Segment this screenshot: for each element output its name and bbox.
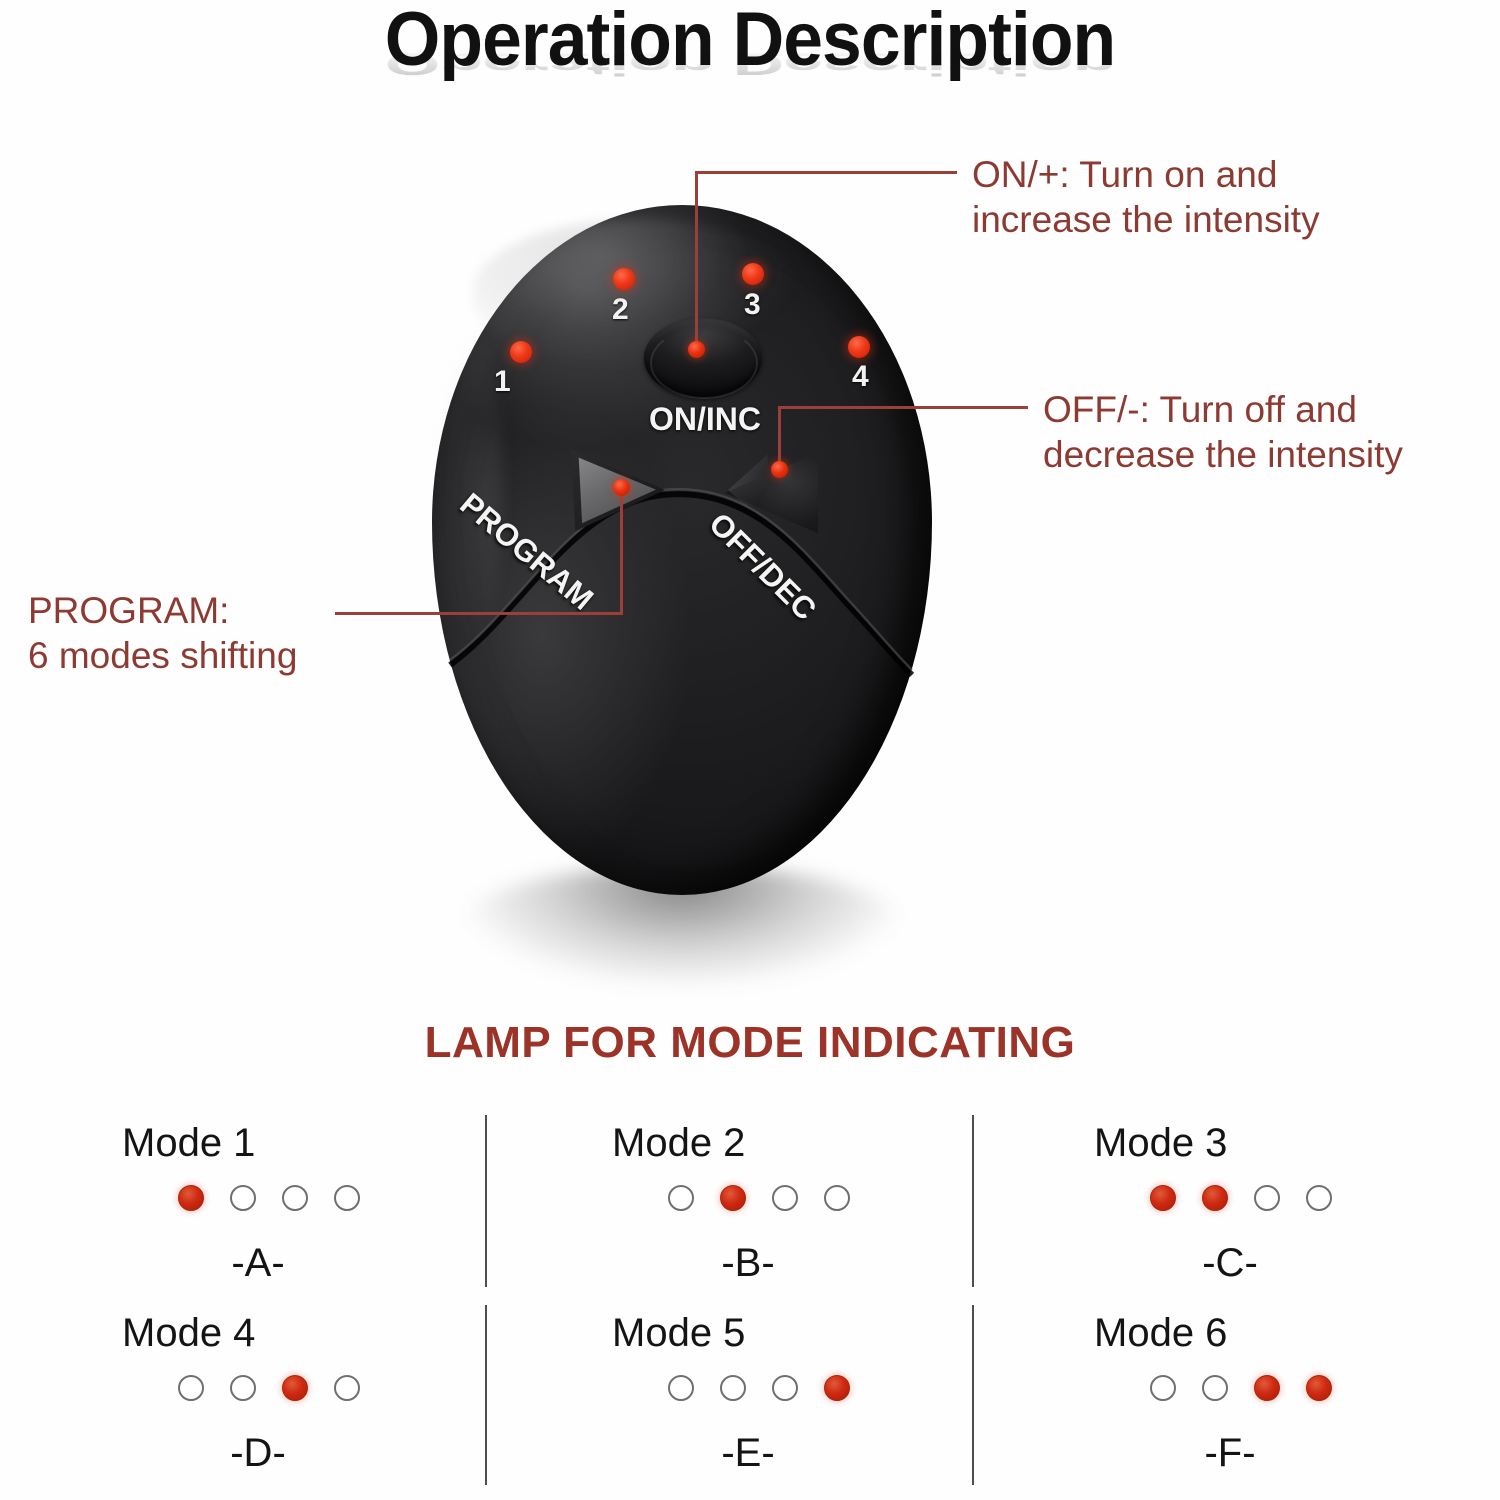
off-callout-line-2: decrease the intensity	[1043, 432, 1403, 477]
device-illustration: 1 2 3 4 ON/INC PROGRAM OFF/DEC	[432, 205, 942, 905]
mode-cell-3: Mode 3 -C-	[1072, 1113, 1500, 1303]
mode-lamp-off	[1150, 1375, 1176, 1401]
mode-lamp-off	[334, 1185, 360, 1211]
off-callout-leader-horizontal	[778, 406, 1028, 409]
program-callout-text: PROGRAM: 6 modes shifting	[28, 588, 297, 678]
mode-lamp-off	[230, 1375, 256, 1401]
device-led-4	[848, 336, 870, 358]
on-inc-button-label: ON/INC	[630, 401, 780, 438]
mode-letter: -F-	[1150, 1431, 1310, 1476]
mode-lamp-off	[334, 1375, 360, 1401]
on-callout-leader-horizontal	[695, 171, 957, 174]
on-callout-leader-dot	[688, 341, 705, 358]
on-callout-line-1: ON/+: Turn on and	[972, 152, 1320, 197]
program-callout-leader-dot	[613, 479, 630, 496]
mode-lamp-on	[720, 1185, 746, 1211]
page-title-reflection: Operation Description	[45, 48, 1455, 80]
device-led-3	[742, 263, 764, 285]
program-callout-leader-vertical	[620, 487, 623, 615]
mode-lamp-off	[1202, 1375, 1228, 1401]
program-callout-line-1: PROGRAM:	[28, 588, 297, 633]
mode-lamp-row	[178, 1185, 360, 1211]
mode-lamp-on	[178, 1185, 204, 1211]
mode-lamp-off	[668, 1375, 694, 1401]
mode-lamp-row	[1150, 1185, 1332, 1211]
mode-lamp-off	[720, 1375, 746, 1401]
mode-lamp-off	[282, 1185, 308, 1211]
program-callout-leader-horizontal	[335, 612, 623, 615]
mode-title: Mode 1	[122, 1121, 255, 1166]
mode-grid: Mode 1 -A- Mode 2 -B- Mode 3 -C- Mode 4 …	[0, 1105, 1500, 1495]
mode-cell-5: Mode 5 -E-	[590, 1303, 1070, 1493]
device-led-number-2: 2	[612, 293, 629, 327]
page-title-block: Operation Description Operation Descript…	[0, 2, 1500, 156]
on-callout-line-2: increase the intensity	[972, 197, 1320, 242]
device-led-number-3: 3	[744, 288, 761, 322]
device-led-number-1: 1	[494, 365, 511, 399]
mode-lamp-row	[1150, 1375, 1332, 1401]
on-callout-leader-vertical	[695, 171, 698, 351]
device-led-1	[510, 341, 532, 363]
mode-title: Mode 6	[1094, 1311, 1227, 1356]
mode-lamp-off	[178, 1375, 204, 1401]
device-led-2	[613, 268, 635, 290]
on-inc-button[interactable]	[644, 318, 762, 398]
lamp-section-heading: LAMP FOR MODE INDICATING	[0, 1018, 1500, 1068]
mode-lamp-off	[824, 1185, 850, 1211]
mode-lamp-on	[1254, 1375, 1280, 1401]
mode-lamp-row	[668, 1185, 850, 1211]
off-callout-line-1: OFF/-: Turn off and	[1043, 387, 1403, 432]
mode-letter: -D-	[178, 1431, 338, 1476]
mode-letter: -E-	[668, 1431, 828, 1476]
mode-lamp-off	[1254, 1185, 1280, 1211]
mode-lamp-off	[1306, 1185, 1332, 1211]
mode-cell-2: Mode 2 -B-	[590, 1113, 1070, 1303]
mode-cell-4: Mode 4 -D-	[100, 1303, 580, 1493]
mode-letter: -C-	[1150, 1241, 1310, 1286]
mode-lamp-row	[668, 1375, 850, 1401]
off-callout-leader-vertical	[778, 406, 781, 469]
off-callout-text: OFF/-: Turn off and decrease the intensi…	[1043, 387, 1403, 477]
mode-lamp-off	[668, 1185, 694, 1211]
mode-lamp-row	[178, 1375, 360, 1401]
device-led-number-4: 4	[852, 360, 869, 394]
mode-title: Mode 3	[1094, 1121, 1227, 1166]
mode-lamp-on	[1202, 1185, 1228, 1211]
mode-lamp-off	[230, 1185, 256, 1211]
operation-description-page: Operation Description Operation Descript…	[0, 0, 1500, 1500]
mode-title: Mode 5	[612, 1311, 745, 1356]
mode-lamp-on	[1150, 1185, 1176, 1211]
on-callout-text: ON/+: Turn on and increase the intensity	[972, 152, 1320, 242]
mode-title: Mode 4	[122, 1311, 255, 1356]
off-callout-leader-dot	[771, 461, 788, 478]
mode-lamp-off	[772, 1185, 798, 1211]
mode-title: Mode 2	[612, 1121, 745, 1166]
mode-lamp-on	[282, 1375, 308, 1401]
mode-letter: -A-	[178, 1241, 338, 1286]
mode-cell-1: Mode 1 -A-	[100, 1113, 580, 1303]
mode-cell-6: Mode 6 -F-	[1072, 1303, 1500, 1493]
mode-lamp-on	[1306, 1375, 1332, 1401]
mode-lamp-on	[824, 1375, 850, 1401]
program-callout-line-2: 6 modes shifting	[28, 633, 297, 678]
mode-letter: -B-	[668, 1241, 828, 1286]
mode-lamp-off	[772, 1375, 798, 1401]
